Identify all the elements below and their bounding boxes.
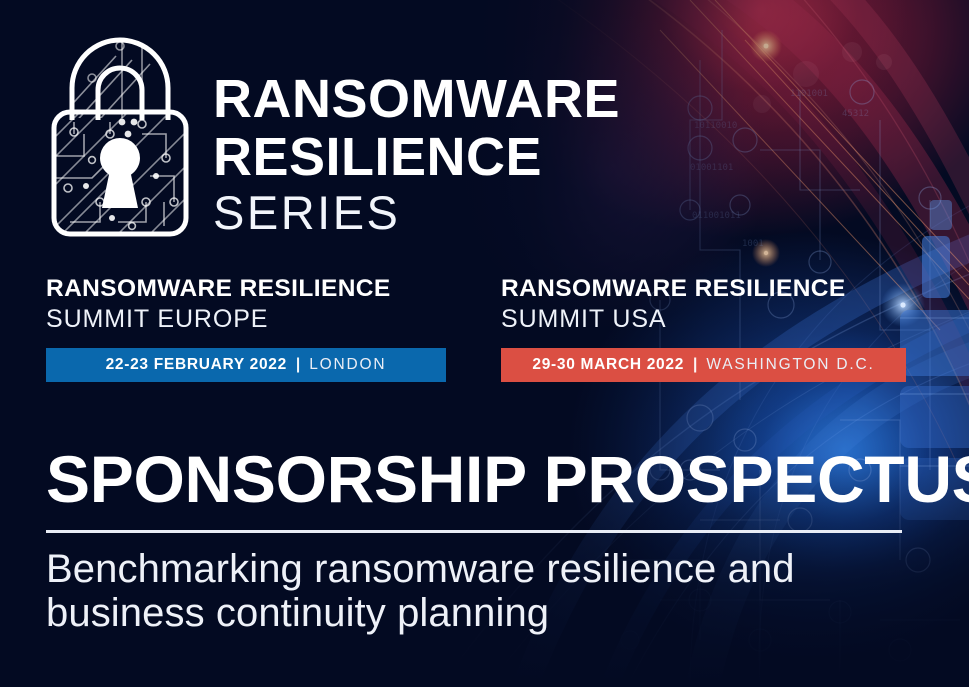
wordmark-line-3: SERIES xyxy=(213,188,620,238)
title-divider xyxy=(46,530,902,533)
wordmark-line-1: RANSOMWARE xyxy=(213,72,620,126)
poster-content: RANSOMWARE RESILIENCE SERIES RANSOMWARE … xyxy=(0,0,969,687)
event-europe-title-light: SUMMIT EUROPE xyxy=(46,304,446,334)
event-europe-separator: | xyxy=(296,356,300,374)
event-europe-city: LONDON xyxy=(309,356,386,374)
event-usa-date-bar: 29-30 MARCH 2022 | WASHINGTON D.C. xyxy=(501,348,906,382)
event-usa-title-light: SUMMIT USA xyxy=(501,304,906,334)
event-usa-title-bold: RANSOMWARE RESILIENCE xyxy=(501,276,906,302)
page-subtitle: Benchmarking ransomware resilience and b… xyxy=(46,547,926,635)
event-usa-separator: | xyxy=(693,356,697,374)
event-europe-date: 22-23 FEBRUARY 2022 xyxy=(106,356,287,374)
poster-page: 10110010 01001101 011001011 1001 45312 1… xyxy=(0,0,969,687)
wordmark-line-2: RESILIENCE xyxy=(213,130,620,184)
event-europe-date-bar: 22-23 FEBRUARY 2022 | LONDON xyxy=(46,348,446,382)
event-usa-date: 29-30 MARCH 2022 xyxy=(532,356,684,374)
event-usa-city: WASHINGTON D.C. xyxy=(706,356,874,374)
event-europe-title-bold: RANSOMWARE RESILIENCE xyxy=(46,276,446,302)
event-usa: RANSOMWARE RESILIENCE SUMMIT USA 29-30 M… xyxy=(501,276,906,382)
page-title: SPONSORSHIP PROSPECTUS xyxy=(46,446,969,512)
padlock-circuit-icon xyxy=(46,26,194,242)
event-europe: RANSOMWARE RESILIENCE SUMMIT EUROPE 22-2… xyxy=(46,276,446,382)
series-wordmark: RANSOMWARE RESILIENCE SERIES xyxy=(213,72,620,238)
